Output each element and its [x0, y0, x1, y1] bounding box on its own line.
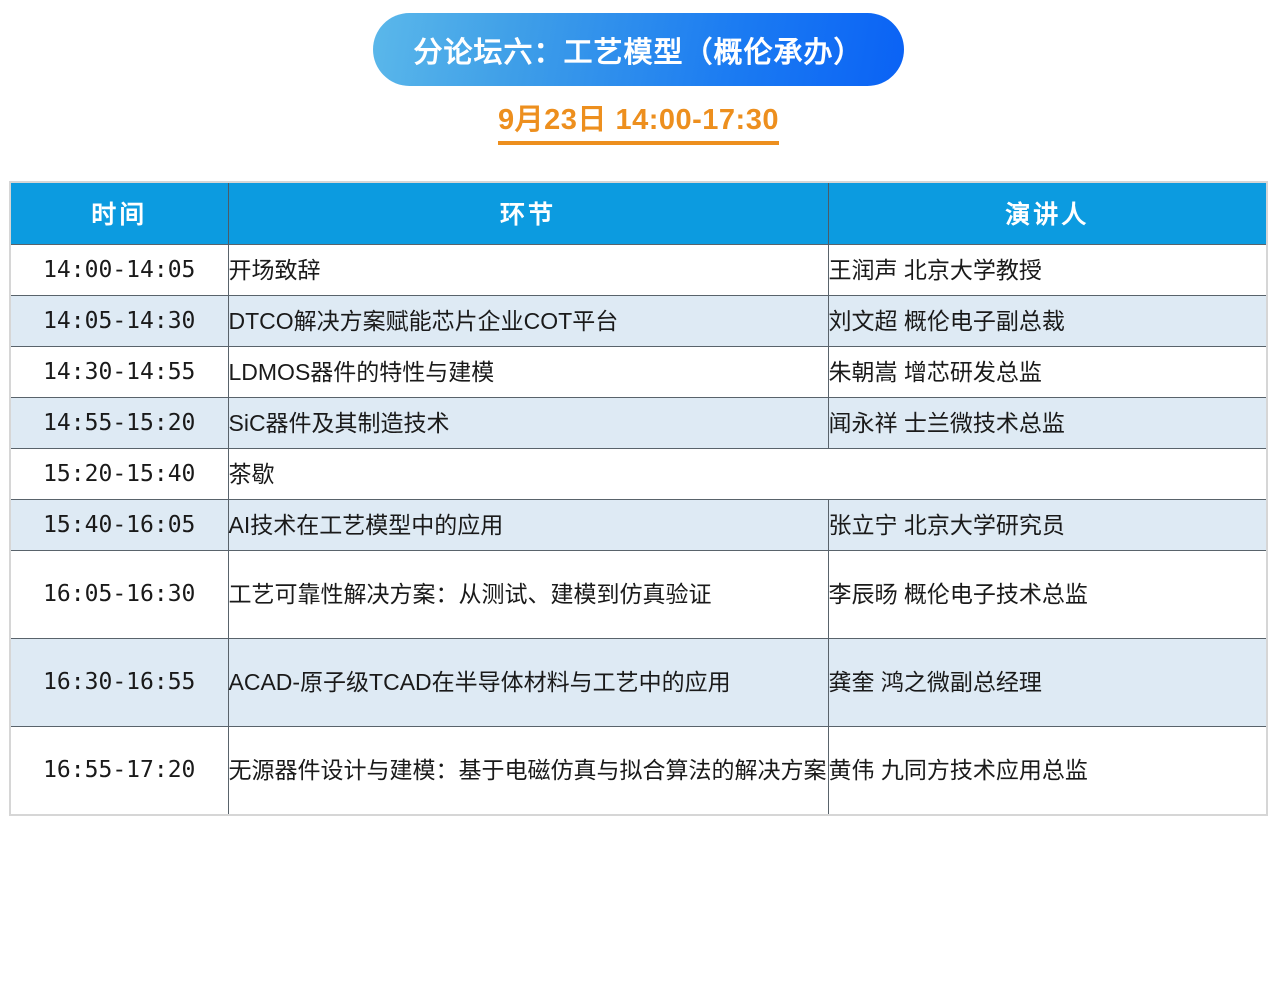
table-row: 16:30-16:55ACAD-原子级TCAD在半导体材料与工艺中的应用龚奎 鸿… [11, 638, 1266, 726]
cell-time: 14:55-15:20 [11, 397, 228, 448]
cell-speaker: 朱朝嵩 增芯研发总监 [828, 346, 1266, 397]
cell-session: 工艺可靠性解决方案：从测试、建模到仿真验证 [228, 550, 828, 638]
cell-time: 16:55-17:20 [11, 726, 228, 814]
cell-session: SiC器件及其制造技术 [228, 397, 828, 448]
table-row: 15:40-16:05AI技术在工艺模型中的应用张立宁 北京大学研究员 [11, 499, 1266, 550]
cell-session: 开场致辞 [228, 244, 828, 295]
session-datetime: 9月23日 14:00-17:30 [498, 105, 779, 145]
cell-time: 16:30-16:55 [11, 638, 228, 726]
cell-time: 14:30-14:55 [11, 346, 228, 397]
title-banner-container: 分论坛六：工艺模型（概伦承办） [0, 0, 1277, 86]
cell-session: AI技术在工艺模型中的应用 [228, 499, 828, 550]
cell-session: 茶歇 [228, 448, 1266, 499]
cell-session: ACAD-原子级TCAD在半导体材料与工艺中的应用 [228, 638, 828, 726]
table-row: 14:55-15:20SiC器件及其制造技术闻永祥 士兰微技术总监 [11, 397, 1266, 448]
cell-session: LDMOS器件的特性与建模 [228, 346, 828, 397]
cell-session: 无源器件设计与建模：基于电磁仿真与拟合算法的解决方案 [228, 726, 828, 814]
table-row: 16:05-16:30工艺可靠性解决方案：从测试、建模到仿真验证李辰旸 概伦电子… [11, 550, 1266, 638]
cell-time: 15:20-15:40 [11, 448, 228, 499]
table-row: 15:20-15:40茶歇 [11, 448, 1266, 499]
cell-speaker: 张立宁 北京大学研究员 [828, 499, 1266, 550]
cell-session: DTCO解决方案赋能芯片企业COT平台 [228, 295, 828, 346]
table-row: 14:30-14:55LDMOS器件的特性与建模朱朝嵩 增芯研发总监 [11, 346, 1266, 397]
cell-time: 14:00-14:05 [11, 244, 228, 295]
agenda-table: 时间 环节 演讲人 14:00-14:05开场致辞王润声 北京大学教授14:05… [11, 183, 1266, 814]
column-header-session: 环节 [228, 183, 828, 245]
cell-speaker: 龚奎 鸿之微副总经理 [828, 638, 1266, 726]
agenda-table-container: 时间 环节 演讲人 14:00-14:05开场致辞王润声 北京大学教授14:05… [9, 181, 1268, 816]
cell-speaker: 李辰旸 概伦电子技术总监 [828, 550, 1266, 638]
cell-time: 15:40-16:05 [11, 499, 228, 550]
title-banner-pill: 分论坛六：工艺模型（概伦承办） [373, 13, 903, 86]
column-header-time: 时间 [11, 183, 228, 245]
table-row: 14:00-14:05开场致辞王润声 北京大学教授 [11, 244, 1266, 295]
cell-speaker: 闻永祥 士兰微技术总监 [828, 397, 1266, 448]
table-row: 16:55-17:20无源器件设计与建模：基于电磁仿真与拟合算法的解决方案黄伟 … [11, 726, 1266, 814]
column-header-speaker: 演讲人 [828, 183, 1266, 245]
cell-speaker: 王润声 北京大学教授 [828, 244, 1266, 295]
agenda-table-body: 14:00-14:05开场致辞王润声 北京大学教授14:05-14:30DTCO… [11, 244, 1266, 814]
cell-time: 14:05-14:30 [11, 295, 228, 346]
cell-speaker: 黄伟 九同方技术应用总监 [828, 726, 1266, 814]
cell-time: 16:05-16:30 [11, 550, 228, 638]
date-line-container: 9月23日 14:00-17:30 [0, 105, 1277, 145]
table-row: 14:05-14:30DTCO解决方案赋能芯片企业COT平台刘文超 概伦电子副总… [11, 295, 1266, 346]
agenda-table-header-row: 时间 环节 演讲人 [11, 183, 1266, 245]
cell-speaker: 刘文超 概伦电子副总裁 [828, 295, 1266, 346]
page-title: 分论坛六：工艺模型（概伦承办） [413, 29, 863, 71]
